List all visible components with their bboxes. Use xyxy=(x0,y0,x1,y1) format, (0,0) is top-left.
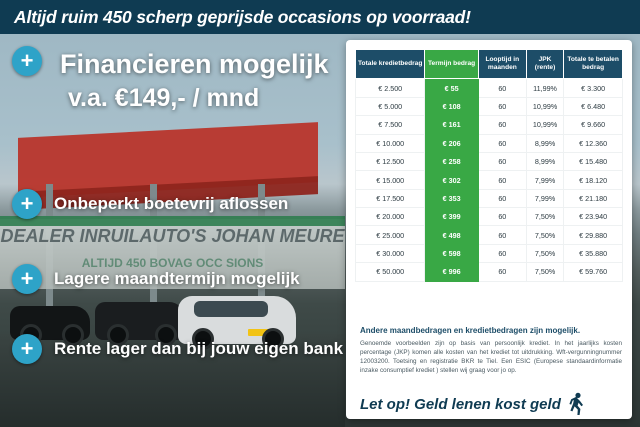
cell-total-credit: € 17.500 xyxy=(356,189,425,207)
cell-monthly-amount: € 598 xyxy=(425,244,478,262)
table-row: € 15.000€ 302607,99%€ 18.120 xyxy=(356,171,623,189)
cell-apr: 7,99% xyxy=(526,171,563,189)
cell-total-payable: € 59.760 xyxy=(564,263,623,281)
table-row: € 30.000€ 598607,50%€ 35.880 xyxy=(356,244,623,262)
promo-overlay: + Financieren mogelijk v.a. €149,- / mnd… xyxy=(0,34,345,427)
col-header-monthly-amount: Termijn bedrag xyxy=(425,50,478,79)
table-row: € 50.000€ 996607,50%€ 59.760 xyxy=(356,263,623,281)
cell-apr: 7,50% xyxy=(526,226,563,244)
table-row: € 12.500€ 258608,99%€ 15.480 xyxy=(356,152,623,170)
promo-subheadline: v.a. €149,- / mnd xyxy=(68,84,353,113)
cell-monthly-amount: € 161 xyxy=(425,116,478,134)
cell-monthly-amount: € 108 xyxy=(425,97,478,115)
col-header-apr: JPK (rente) xyxy=(526,50,563,79)
table-row: € 5.000€ 1086010,99%€ 6.480 xyxy=(356,97,623,115)
promo-bullet-3-label: Rente lager dan bij jouw eigen bank xyxy=(54,339,343,359)
cell-monthly-amount: € 302 xyxy=(425,171,478,189)
cell-monthly-amount: € 206 xyxy=(425,134,478,152)
table-row: € 7.500€ 1616010,99%€ 9.660 xyxy=(356,116,623,134)
top-banner: Altijd ruim 450 scherp geprijsde occasio… xyxy=(0,0,640,34)
plus-icon: + xyxy=(12,189,42,219)
promo-headline: Financieren mogelijk xyxy=(60,50,345,78)
cell-apr: 7,50% xyxy=(526,263,563,281)
cell-duration: 60 xyxy=(478,152,526,170)
cell-total-credit: € 5.000 xyxy=(356,97,425,115)
promo-bullet-2: + Lagere maandtermijn mogelijk xyxy=(12,264,300,294)
cell-total-credit: € 12.500 xyxy=(356,152,425,170)
cell-total-credit: € 25.000 xyxy=(356,226,425,244)
cell-duration: 60 xyxy=(478,189,526,207)
col-header-total-credit: Totale kredietbedrag xyxy=(356,50,425,79)
table-row: € 17.500€ 353607,99%€ 21.180 xyxy=(356,189,623,207)
cell-duration: 60 xyxy=(478,208,526,226)
table-row: € 10.000€ 206608,99%€ 12.360 xyxy=(356,134,623,152)
cell-apr: 8,99% xyxy=(526,134,563,152)
cell-total-payable: € 18.120 xyxy=(564,171,623,189)
cell-total-payable: € 12.360 xyxy=(564,134,623,152)
cell-total-payable: € 21.180 xyxy=(564,189,623,207)
table-row: € 20.000€ 399607,50%€ 23.940 xyxy=(356,208,623,226)
promo-bullet-1-label: Onbeperkt boetevrij aflossen xyxy=(54,194,288,214)
cell-monthly-amount: € 498 xyxy=(425,226,478,244)
plus-icon: + xyxy=(12,334,42,364)
cell-monthly-amount: € 353 xyxy=(425,189,478,207)
cell-duration: 60 xyxy=(478,226,526,244)
cell-total-payable: € 3.300 xyxy=(564,79,623,97)
walking-person-icon xyxy=(567,392,587,416)
col-header-total-payable: Totale te betalen bedrag xyxy=(564,50,623,79)
promo-headline-row: + xyxy=(12,46,42,76)
cell-total-payable: € 35.880 xyxy=(564,244,623,262)
cell-total-payable: € 9.660 xyxy=(564,116,623,134)
rates-card: Totale kredietbedrag Termijn bedrag Loop… xyxy=(346,40,632,419)
cell-total-credit: € 50.000 xyxy=(356,263,425,281)
cell-total-credit: € 7.500 xyxy=(356,116,425,134)
cell-monthly-amount: € 55 xyxy=(425,79,478,97)
cell-total-payable: € 29.880 xyxy=(564,226,623,244)
table-row: € 2.500€ 556011,99%€ 3.300 xyxy=(356,79,623,97)
warning-row: Let op! Geld lenen kost geld xyxy=(360,392,622,416)
table-header-row: Totale kredietbedrag Termijn bedrag Loop… xyxy=(356,50,623,79)
cell-duration: 60 xyxy=(478,116,526,134)
note-title: Andere maandbedragen en kredietbedragen … xyxy=(360,326,622,335)
cell-apr: 8,99% xyxy=(526,152,563,170)
promo-bullet-2-label: Lagere maandtermijn mogelijk xyxy=(54,269,300,289)
warning-text: Let op! Geld lenen kost geld xyxy=(360,396,561,413)
promo-bullet-3: + Rente lager dan bij jouw eigen bank xyxy=(12,334,343,364)
plus-icon: + xyxy=(12,264,42,294)
cell-total-credit: € 10.000 xyxy=(356,134,425,152)
cell-total-payable: € 6.480 xyxy=(564,97,623,115)
cell-total-credit: € 2.500 xyxy=(356,79,425,97)
cell-apr: 7,50% xyxy=(526,208,563,226)
cell-monthly-amount: € 996 xyxy=(425,263,478,281)
cell-total-credit: € 30.000 xyxy=(356,244,425,262)
cell-total-payable: € 23.940 xyxy=(564,208,623,226)
cell-monthly-amount: € 399 xyxy=(425,208,478,226)
table-row: € 25.000€ 498607,50%€ 29.880 xyxy=(356,226,623,244)
note-body: Genoemde voorbeelden zijn op basis van p… xyxy=(360,339,622,376)
cell-duration: 60 xyxy=(478,97,526,115)
cell-duration: 60 xyxy=(478,79,526,97)
cell-apr: 7,99% xyxy=(526,189,563,207)
rates-table: Totale kredietbedrag Termijn bedrag Loop… xyxy=(355,49,623,282)
cell-apr: 10,99% xyxy=(526,97,563,115)
cell-duration: 60 xyxy=(478,134,526,152)
plus-icon: + xyxy=(12,46,42,76)
banner-text: Altijd ruim 450 scherp geprijsde occasio… xyxy=(0,7,471,28)
cell-apr: 10,99% xyxy=(526,116,563,134)
col-header-duration: Looptijd in maanden xyxy=(478,50,526,79)
promo-bullet-1: + Onbeperkt boetevrij aflossen xyxy=(12,189,288,219)
cell-duration: 60 xyxy=(478,171,526,189)
cell-total-credit: € 15.000 xyxy=(356,171,425,189)
cell-duration: 60 xyxy=(478,263,526,281)
cell-total-payable: € 15.480 xyxy=(564,152,623,170)
cell-apr: 7,50% xyxy=(526,244,563,262)
cell-duration: 60 xyxy=(478,244,526,262)
cell-monthly-amount: € 258 xyxy=(425,152,478,170)
cell-total-credit: € 20.000 xyxy=(356,208,425,226)
cell-apr: 11,99% xyxy=(526,79,563,97)
